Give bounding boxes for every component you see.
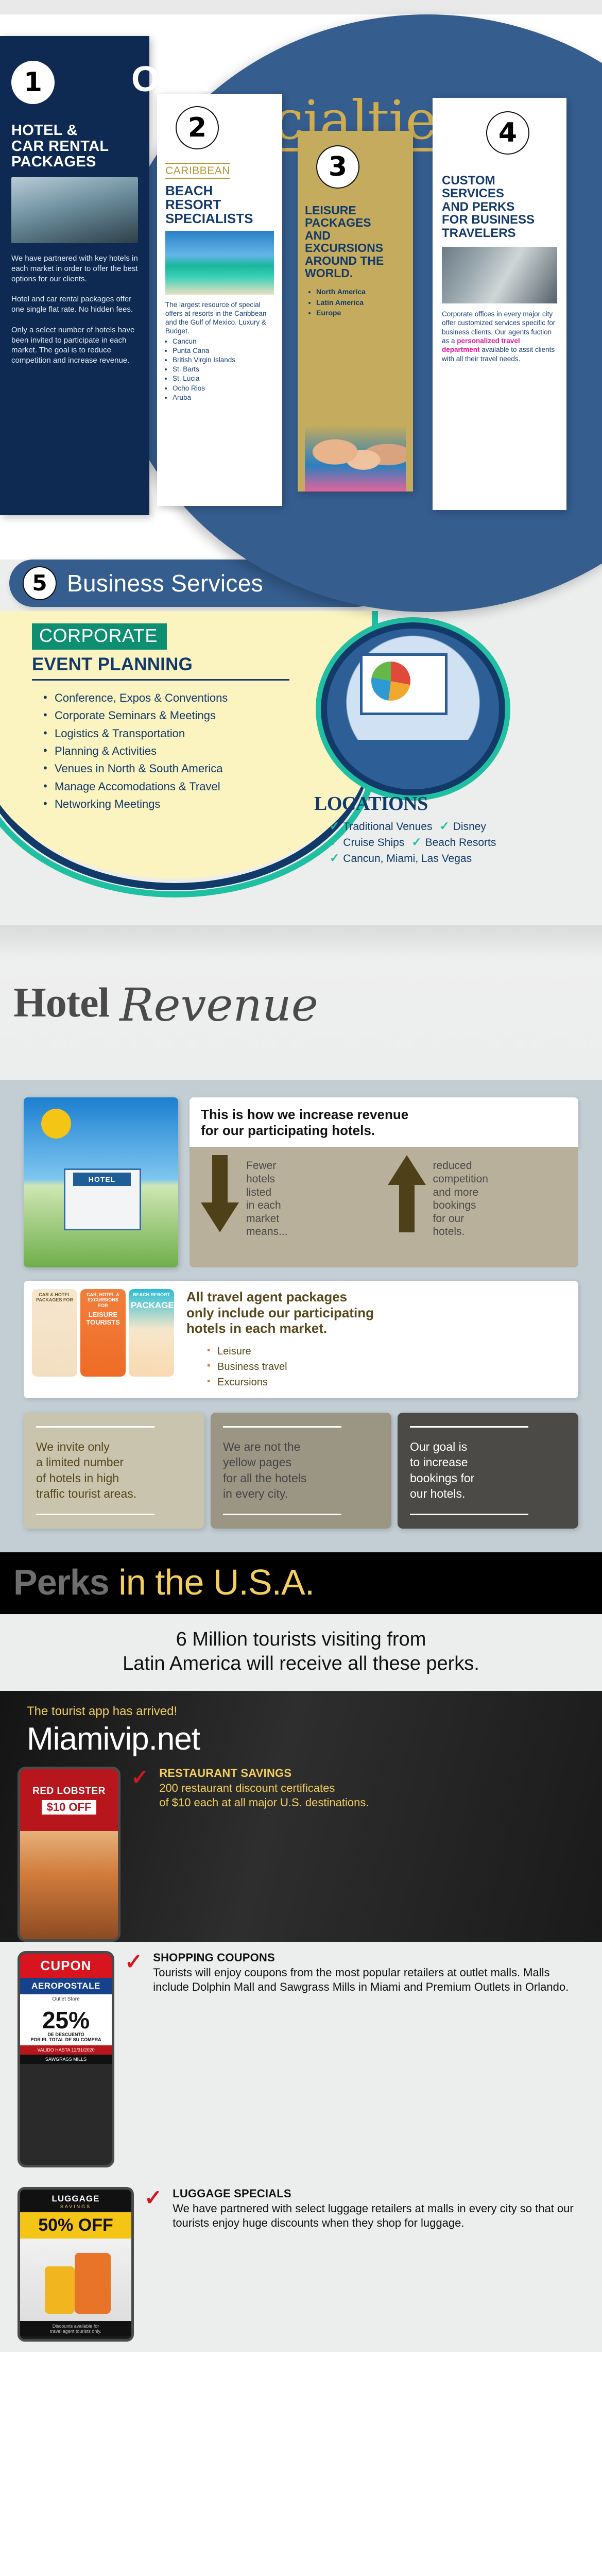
package-card-top-label: BEACH RESORT: [129, 1289, 174, 1297]
business-travelers-photo: [442, 247, 557, 303]
shopping-coupons-text: SHOPPING COUPONS Tourists will enjoy cou…: [153, 1951, 584, 1994]
locations-block: LOCATIONS ✓Traditional Venues ✓Disney ✓C…: [314, 792, 536, 867]
top-spacer-bar: [0, 0, 602, 14]
aeropostale-cupon-phone: CUPON AEROPOSTALE Outlet Store 25% DE DE…: [18, 1951, 114, 2167]
business-services-list: Conference, Expos & Conventions Corporat…: [43, 689, 228, 813]
suitcase-icon: [75, 2253, 111, 2314]
list-item: ✓Cancun, Miami, Las Vegas: [330, 851, 472, 865]
statement-box-2: We are not the yellow pages for all the …: [211, 1413, 391, 1529]
list-item: ✓Beach Resorts: [411, 835, 496, 849]
hotel-revenue-body: HOTEL This is how we increase revenue fo…: [0, 1080, 602, 1552]
statement-text: We are not the yellow pages for all the …: [223, 1439, 379, 1501]
luggage-savings-phone: LUGGAGE SAVINGS 50% OFF Discounts availa…: [18, 2187, 134, 2342]
section-hotel-revenue: Hotel Revenue HOTEL This is how we incre…: [0, 925, 602, 1552]
statement-text: Our goal is to increase bookings for our…: [410, 1439, 566, 1501]
business-services-body: CORPORATE EVENT PLANNING Conference, Exp…: [0, 607, 602, 914]
travel-packages-text: All travel agent packages only include o…: [186, 1289, 570, 1390]
list-item: Planning & Activities: [43, 742, 228, 760]
perk-heading: RESTAURANT SAVINGS: [159, 1767, 584, 1780]
section-perks-usa: Perks in the U.S.A. 6 Million tourists v…: [0, 1552, 602, 2352]
package-card-top-label: CAR & HOTEL PACKAGES FOR: [32, 1289, 77, 1303]
fewer-hotels-text: Fewer hotels listed in each market means…: [246, 1155, 288, 1239]
family-photo: [305, 426, 406, 492]
specialty-card-1: 1 HOTEL & CAR RENTAL PACKAGES We have pa…: [0, 36, 149, 515]
revenue-callout-text-box: This is how we increase revenue for our …: [190, 1097, 578, 1147]
list-item: Punta Cana: [173, 346, 274, 355]
business-services-title: Business Services: [67, 569, 263, 597]
pie-chart-icon: [371, 662, 410, 701]
list-item: Corporate Seminars & Meetings: [43, 707, 228, 724]
location-label: Beach Resorts: [425, 837, 496, 849]
corporate-tag: CORPORATE: [32, 623, 167, 650]
luggage-illustration: [20, 2239, 131, 2321]
restaurant-savings-text: RESTAURANT SAVINGS 200 restaurant discou…: [159, 1767, 584, 1809]
specialty-body-1: We have partnered with key hotels in eac…: [11, 253, 138, 366]
package-card-bottom-label: LEISURE TOURISTS: [80, 1308, 126, 1327]
package-card-bottom-label: PACKAGES: [129, 1297, 174, 1311]
luggage-offer-label: 50% OFF: [20, 2212, 131, 2239]
badge-number-2: 2: [176, 106, 219, 149]
list-item: St. Lucia: [173, 374, 274, 383]
perks-title-usa: in the U.S.A.: [109, 1562, 314, 1602]
car-rental-photo: [11, 177, 138, 243]
list-item: Business travel: [207, 1359, 570, 1375]
specialty-heading-4: CUSTOM SERVICES AND PERKS FOR BUSINESS T…: [442, 174, 557, 240]
list-item: British Virgin Islands: [173, 355, 274, 365]
list-item: Networking Meetings: [43, 795, 228, 813]
perk-row-restaurant-savings: RED LOBSTER $10 OFF ✓ RESTAURANT SAVINGS…: [0, 1757, 602, 1942]
infographic-page: OUR Specialties 1 HOTEL & CAR RENTAL PAC…: [0, 0, 602, 2352]
badge-number-5: 5: [23, 566, 57, 600]
list-item: Ocho Rios: [173, 384, 274, 393]
section-business-services: 5 Business Services CORPORATE EVENT PLAN…: [0, 560, 602, 925]
specialty-heading-2: BEACH RESORT SPECIALISTS: [165, 184, 274, 226]
revenue-statement-boxes: We invite only a limited number of hotel…: [24, 1413, 578, 1529]
specialty-body-4: Corporate offices in every major city of…: [442, 310, 557, 363]
package-card-leisure-tourists: CAR, HOTEL & EXCURSIONS FOR LEISURE TOUR…: [80, 1289, 126, 1377]
luggage-brand-label: LUGGAGE: [20, 2194, 131, 2204]
discount-line-2: POR EL TOTAL DE SU COMPRA: [20, 2037, 112, 2042]
presentation-illustration: [321, 622, 505, 795]
discount-line-1: DE DESCUENTO: [20, 2032, 112, 2037]
revenue-explainer: This is how we increase revenue for our …: [190, 1097, 578, 1267]
statement-box-1: We invite only a limited number of hotel…: [24, 1413, 204, 1529]
hotel-revenue-header: Hotel Revenue: [0, 925, 602, 1080]
divider: [223, 1426, 341, 1428]
specialty-heading-1: HOTEL & CAR RENTAL PACKAGES: [11, 123, 138, 170]
location-label: Disney: [453, 821, 486, 833]
section-our-specialties: OUR Specialties 1 HOTEL & CAR RENTAL PAC…: [0, 0, 602, 546]
perk-body: We have partnered with select luggage re…: [173, 2201, 584, 2230]
check-icon: ✓: [330, 851, 339, 865]
perks-subtitle-block: 6 Million tourists visiting from Latin A…: [0, 1614, 602, 1691]
perk-body: Tourists will enjoy coupons from the mos…: [153, 1965, 584, 1994]
statement-text: We invite only a limited number of hotel…: [36, 1439, 192, 1501]
specialty-card-3: 3 LEISURE PACKAGES AND EXCURSIONS AROUND…: [298, 131, 413, 492]
locations-title: LOCATIONS: [314, 792, 536, 815]
list-item: Excursions: [207, 1375, 570, 1390]
sun-icon: [41, 1109, 71, 1139]
discount-block: 25% DE DESCUENTO POR EL TOTAL DE SU COMP…: [20, 2004, 112, 2045]
luggage-header: LUGGAGE SAVINGS: [20, 2190, 131, 2212]
retailer-brand-label: AEROPOSTALE: [20, 1978, 112, 1994]
perk-row-luggage-specials: LUGGAGE SAVINGS 50% OFF Discounts availa…: [0, 2178, 602, 2352]
luggage-sub-label: SAVINGS: [20, 2204, 131, 2209]
event-planning-heading: EVENT PLANNING: [32, 654, 193, 675]
cupon-label: CUPON: [20, 1954, 112, 1978]
red-lobster-coupon-phone: RED LOBSTER $10 OFF: [18, 1767, 121, 1942]
locations-list: ✓Traditional Venues ✓Disney ✓Cruise Ship…: [330, 819, 536, 865]
list-item: Europe: [316, 308, 406, 318]
check-icon: ✓: [439, 819, 449, 833]
list-item: ✓Cruise Ships: [330, 835, 404, 849]
app-name-text: Miamivip.net: [0, 1721, 602, 1757]
fewer-hotels-group: Fewer hotels listed in each market means…: [201, 1155, 381, 1239]
revenue-callout-text: This is how we increase revenue for our …: [201, 1107, 567, 1139]
hotel-illustration: HOTEL: [24, 1097, 178, 1267]
package-card-beach-resort: BEACH RESORT PACKAGES: [129, 1289, 174, 1377]
revenue-callout-card: HOTEL This is how we increase revenue fo…: [24, 1097, 578, 1267]
restaurant-offer-label: $10 OFF: [42, 1800, 97, 1815]
arrow-down-icon: [201, 1155, 239, 1232]
divider: [36, 1514, 154, 1515]
statement-box-3: Our goal is to increase bookings for our…: [398, 1413, 578, 1529]
list-item: Leisure: [207, 1344, 570, 1359]
check-icon: ✓: [144, 2189, 162, 2207]
specialty-heading-3: LEISURE PACKAGES AND EXCURSIONS AROUND T…: [305, 204, 406, 279]
divider: [410, 1426, 528, 1428]
perks-dark-panel: The tourist app has arrived! Miamivip.ne…: [0, 1691, 602, 1942]
more-bookings-group: reduced competition and more bookings fo…: [388, 1155, 567, 1239]
list-item: Logistics & Transportation: [43, 725, 228, 742]
list-item: Aruba: [173, 393, 274, 402]
perks-title-bar: Perks in the U.S.A.: [0, 1552, 602, 1614]
beach-photo: [165, 231, 274, 295]
coupon-mall: SAWGRASS MILLS: [20, 2055, 112, 2064]
badge-number-4: 4: [486, 111, 529, 155]
location-label: Cancun, Miami, Las Vegas: [343, 853, 472, 865]
arrow-up-icon: [388, 1155, 426, 1232]
list-item: Venues in North & South America: [43, 760, 228, 777]
divider: [410, 1514, 528, 1515]
list-item: ✓Disney: [439, 819, 486, 833]
app-kicker-text: The tourist app has arrived!: [0, 1704, 602, 1719]
list-item: Manage Accomodations & Travel: [43, 778, 228, 795]
perks-subtitle: 6 Million tourists visiting from Latin A…: [15, 1628, 587, 1675]
specialty-card-2: 2 CARIBBEAN BEACH RESORT SPECIALISTS The…: [157, 94, 282, 506]
locations-row: ✓Cruise Ships ✓Beach Resorts: [330, 835, 536, 849]
restaurant-brand-label: RED LOBSTER: [32, 1786, 106, 1797]
luggage-note: Discounts available for travel agent tou…: [20, 2321, 131, 2336]
check-icon: ✓: [330, 819, 339, 833]
caribbean-destination-list: Cancun Punta Cana British Virgin Islands…: [173, 337, 274, 403]
perk-body: 200 restaurant discount certificates of …: [159, 1781, 584, 1809]
list-item: Conference, Expos & Conventions: [43, 689, 228, 707]
luggage-specials-text: LUGGAGE SPECIALS We have partnered with …: [173, 2187, 584, 2230]
specialty-card-4: 4 CUSTOM SERVICES AND PERKS FOR BUSINESS…: [433, 98, 566, 510]
check-icon: ✓: [125, 1953, 143, 1971]
perk-heading: LUGGAGE SPECIALS: [173, 2187, 584, 2200]
perk-row-shopping-coupons: CUPON AEROPOSTALE Outlet Store 25% DE DE…: [0, 1942, 602, 2178]
hotel-revenue-title-hotel: Hotel: [13, 978, 109, 1027]
coupon-validity: VALIDO HASTA 12/31/2020: [20, 2045, 112, 2055]
check-icon: ✓: [330, 835, 339, 849]
audience-shape: [327, 740, 499, 789]
perk-heading: SHOPPING COUPONS: [153, 1951, 584, 1964]
list-item: Latin America: [316, 297, 406, 308]
revenue-arrows-row: Fewer hotels listed in each market means…: [190, 1147, 578, 1267]
package-card-business-traveler: CAR & HOTEL PACKAGES FOR: [32, 1289, 77, 1377]
locations-row: ✓Cancun, Miami, Las Vegas: [330, 851, 536, 865]
travel-packages-headline: All travel agent packages only include o…: [186, 1289, 570, 1336]
divider: [36, 1426, 154, 1428]
list-item: North America: [316, 286, 406, 297]
hotel-revenue-title-revenue: Revenue: [119, 978, 318, 1031]
divider: [223, 1514, 341, 1515]
badge-number-1: 1: [11, 61, 55, 104]
coupon-header: RED LOBSTER $10 OFF: [20, 1769, 118, 1831]
food-photo: [20, 1831, 118, 1939]
package-card-top-label: CAR, HOTEL & EXCURSIONS FOR: [80, 1289, 126, 1308]
caribbean-kicker: CARIBBEAN: [165, 163, 230, 179]
badge-number-3: 3: [316, 145, 359, 189]
locations-row: ✓Traditional Venues ✓Disney: [330, 819, 536, 833]
location-label: Traditional Venues: [343, 821, 432, 833]
leisure-region-list: North America Latin America Europe: [316, 286, 406, 318]
hotel-sign: HOTEL: [73, 1173, 131, 1186]
heading-rule: [32, 679, 289, 681]
list-item: Cancun: [173, 337, 274, 346]
perks-title-perks: Perks: [13, 1562, 109, 1602]
specialty-body-2: The largest resource of special offers a…: [165, 301, 274, 336]
check-icon: ✓: [411, 835, 421, 849]
check-icon: ✓: [131, 1769, 149, 1786]
suitcase-icon: [45, 2266, 75, 2314]
more-bookings-text: reduced competition and more bookings fo…: [433, 1155, 488, 1239]
list-item: ✓Traditional Venues: [330, 819, 432, 833]
list-item: St. Barts: [173, 365, 274, 374]
travel-packages-card: CAR & HOTEL PACKAGES FOR CAR, HOTEL & EX…: [24, 1281, 578, 1398]
discount-percent: 25%: [20, 2009, 112, 2032]
location-label: Cruise Ships: [343, 837, 404, 849]
travel-packages-list: Leisure Business travel Excursions: [207, 1344, 570, 1390]
retailer-sub-label: Outlet Store: [20, 1994, 112, 2004]
